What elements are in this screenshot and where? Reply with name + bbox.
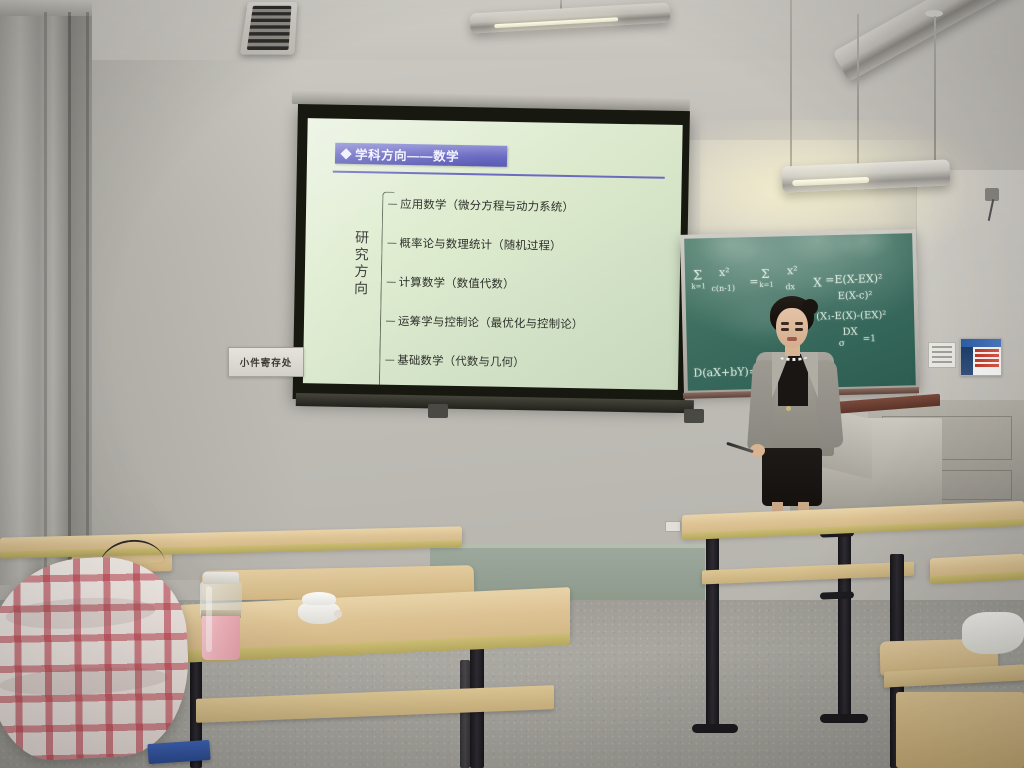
cup-lid: [302, 592, 336, 605]
pearl-necklace: [778, 352, 808, 361]
presenter-hair-bun: [802, 299, 818, 315]
cup-knob: [334, 610, 342, 618]
presenter-mouth: [787, 337, 797, 341]
chalk-equation: =1: [863, 334, 877, 344]
slide-title: 学科方向——数学: [355, 144, 459, 165]
poster-header: [961, 339, 1001, 347]
fluorescent-tube: [792, 176, 869, 186]
desk-leg: [706, 530, 719, 728]
light-cable: [934, 16, 936, 166]
presenter-jacket-button: [786, 406, 791, 411]
storage-sign: 小件寄存处: [228, 347, 304, 377]
presenter: [742, 296, 852, 512]
chalk-equation: =: [749, 275, 759, 288]
chalk-equation: dx: [785, 282, 795, 291]
diamond-bullet-icon: [340, 148, 351, 159]
jar-highlight: [206, 586, 212, 652]
wall-notice: [928, 342, 956, 368]
slide-line: 概率论与数理统计（随机过程）: [399, 223, 668, 267]
chalk-equation: k=1: [759, 281, 774, 289]
curtain-fold: [86, 12, 89, 585]
wall-socket[interactable]: [665, 521, 681, 532]
poster-body: [961, 347, 1001, 376]
chalk-equation: c(n-1): [711, 284, 735, 294]
slide-brace-label: 研究方向: [348, 229, 375, 298]
slide-line: 计算数学（数值代数）: [398, 262, 667, 306]
vent-slats-icon: [247, 6, 292, 50]
projection-screen-frame: 学科方向——数学 研究方向 应用数学（微分方程与动力系统） 概率论与数理统计（随…: [293, 104, 690, 406]
curtain-fold: [44, 12, 47, 585]
white-bundle: [962, 612, 1024, 654]
light-cable: [790, 0, 792, 168]
desk-foot: [692, 724, 738, 733]
slide-divider: [333, 171, 665, 179]
chalk-equation: Σ: [761, 267, 770, 281]
slide-line: 运筹学与控制论（最优化与控制论）: [398, 301, 667, 345]
desk-leg: [838, 522, 851, 718]
classroom-photo: 学科方向——数学 研究方向 应用数学（微分方程与动力系统） 概率论与数理统计（随…: [0, 0, 1024, 768]
desk-foot: [820, 714, 868, 723]
wall-poster: [960, 338, 1002, 376]
slide-line: 应用数学（微分方程与动力系统）: [400, 184, 669, 228]
chalk-equation: k=1: [691, 282, 706, 290]
curtain-fold: [68, 12, 71, 585]
chair-seat[interactable]: [896, 692, 1024, 768]
chalk-equation: x²: [787, 264, 798, 277]
chalk-equation: X: [813, 275, 822, 289]
slide-title-bar: 学科方向——数学: [335, 143, 507, 167]
pink-thermos-jar[interactable]: [200, 572, 242, 660]
slide-line: 基础数学（代数与几何）: [397, 340, 666, 384]
poster-photo: [961, 347, 973, 376]
screen-bracket: [684, 409, 704, 423]
storage-sign-label: 小件寄存处: [240, 355, 293, 369]
ceiling-vent: [240, 2, 298, 55]
chalk-equation: Σ: [693, 268, 703, 283]
poster-text: [973, 347, 1001, 376]
window-curtain: [0, 0, 92, 585]
chalk-equation: x²: [719, 266, 730, 279]
presenter-skirt: [762, 448, 822, 506]
chalk-equation: =E(X-EX)²: [825, 272, 883, 286]
slide-body-lines: 应用数学（微分方程与动力系统） 概率论与数理统计（随机过程） 计算数学（数值代数…: [397, 184, 669, 384]
projection-screen-surface: 学科方向——数学 研究方向 应用数学（微分方程与动力系统） 概率论与数理统计（随…: [303, 118, 683, 390]
jar-lid: [203, 572, 239, 584]
presenter-face: [776, 308, 808, 348]
wall-right-panel: [916, 170, 1024, 430]
white-cup[interactable]: [298, 592, 340, 624]
desk-rail: [820, 591, 854, 599]
plaid-cloth[interactable]: [0, 553, 193, 763]
desk-leg: [460, 660, 470, 768]
light-cable: [857, 14, 859, 166]
screen-bracket: [428, 404, 448, 418]
